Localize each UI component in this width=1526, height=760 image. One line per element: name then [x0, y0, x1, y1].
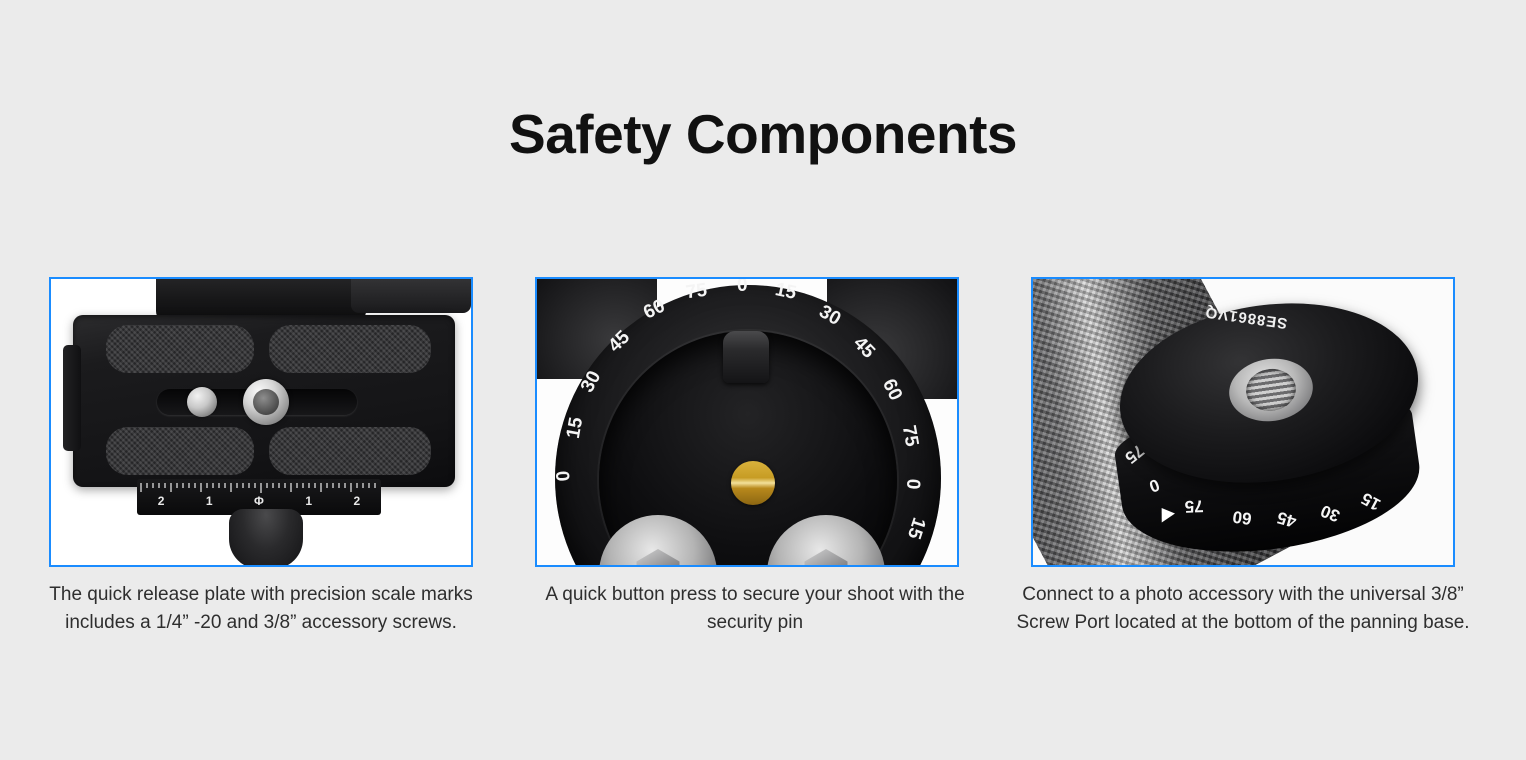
ruler-number: 1: [206, 494, 213, 508]
caption-security-pin: A quick button press to secure your shoo…: [520, 581, 990, 637]
dial-number: 15: [563, 416, 588, 441]
dial-number: 15: [773, 279, 798, 305]
dial-number: 0: [737, 279, 748, 297]
quarter-inch-screw: [187, 387, 217, 417]
dial-number: 75: [1184, 495, 1204, 516]
rubber-pad-top-right: [269, 325, 431, 373]
ruler-number: 2: [354, 494, 361, 508]
product-image-panel-screw-port: 75 0 75 60 45 30 15 SE8861VQ: [1031, 277, 1455, 567]
ruler-number-zero: Φ: [254, 494, 264, 508]
brass-screw: [731, 461, 775, 505]
photo-security-pin-dial: 75 0 15 60 30 45 45 30 60 15 75 0 0 15: [537, 279, 957, 565]
dial-number: 60: [877, 376, 906, 405]
dial-number: 15: [1358, 488, 1384, 515]
dial-number: 0: [901, 478, 924, 490]
camera-bracket-right: [351, 279, 471, 313]
ruler-numbers: 2 1 Φ 1 2: [137, 494, 381, 508]
dial-number: 0: [1146, 474, 1162, 496]
panel-row: 2 1 Φ 1 2 75 0 15 60 30 45 45: [0, 277, 1526, 569]
dial-number: 15: [902, 515, 929, 542]
photo-quick-release-plate: 2 1 Φ 1 2: [51, 279, 471, 565]
plate-side-clip: [63, 345, 81, 451]
three-eighths-inch-screw: [243, 379, 289, 425]
dial-number: 60: [1231, 506, 1253, 528]
ruler-number: 2: [158, 494, 165, 508]
rubber-pad-bottom-left: [106, 427, 254, 475]
ruler-number: 1: [305, 494, 312, 508]
dial-number: 30: [1318, 500, 1343, 526]
caption-row: The quick release plate with precision s…: [0, 581, 1526, 651]
dial-number: 75: [897, 424, 922, 449]
dial-number: 75: [685, 280, 709, 305]
caption-screw-port: Connect to a photo accessory with the un…: [1008, 581, 1478, 637]
rubber-pad-top-left: [106, 325, 254, 373]
dial-number: 0: [553, 470, 576, 482]
product-image-panel-security-pin: 75 0 15 60 30 45 45 30 60 15 75 0 0 15: [535, 277, 959, 567]
page-title: Safety Components: [0, 104, 1526, 165]
dial-number: 45: [1275, 507, 1299, 531]
product-image-panel-quick-release-plate: 2 1 Φ 1 2: [49, 277, 473, 567]
dial-number: 45: [848, 333, 879, 363]
photo-screw-port-base: 75 0 75 60 45 30 15 SE8861VQ: [1033, 279, 1453, 565]
ball-head-stem: [229, 509, 303, 565]
rubber-pad-bottom-right: [269, 427, 431, 475]
security-pin-button[interactable]: [723, 331, 769, 383]
caption-quick-release-plate: The quick release plate with precision s…: [26, 581, 496, 637]
